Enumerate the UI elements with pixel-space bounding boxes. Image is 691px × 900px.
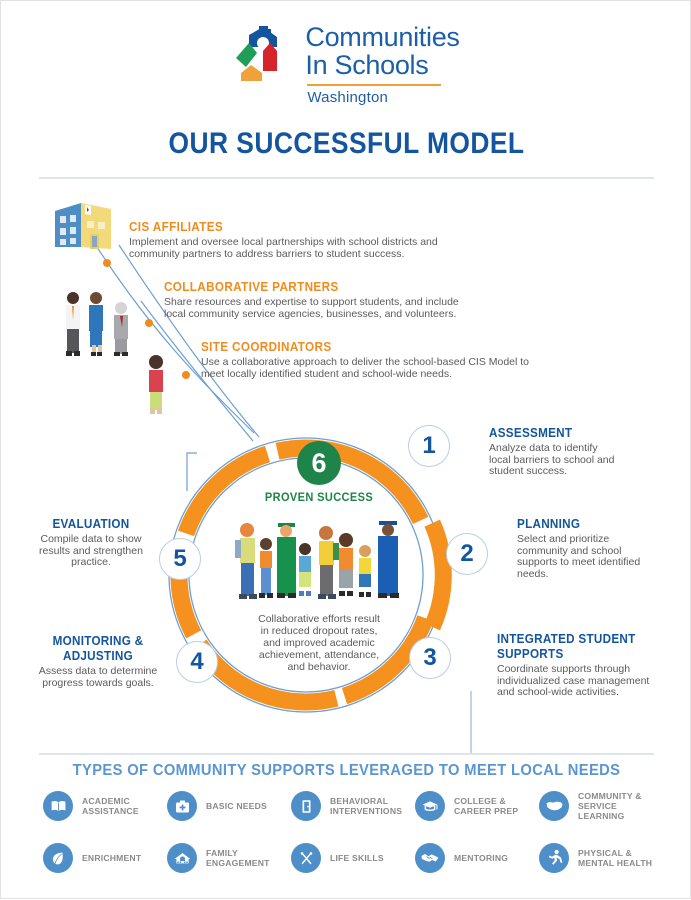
callout-site-coordinators: SITE COORDINATORS Use a collaborative ap… xyxy=(201,339,529,380)
support-label: BASIC NEEDS xyxy=(206,801,267,811)
step-badge-2: 2 xyxy=(446,533,488,575)
step-text-evaluation: EVALUATION Compile data to show results … xyxy=(13,516,169,569)
logo-divider xyxy=(307,84,441,86)
step-heading: EVALUATION xyxy=(21,516,161,531)
first-aid-kit-icon xyxy=(167,791,197,821)
step-badge-1: 1 xyxy=(408,425,450,467)
support-label: FAMILY ENGAGEMENT xyxy=(206,848,270,868)
callout-cis-affiliates: CIS AFFILIATES Implement and oversee loc… xyxy=(129,219,438,260)
leaf-icon xyxy=(43,843,73,873)
step-number: 5 xyxy=(173,545,186,573)
proven-success-label: PROVEN SUCCESS xyxy=(253,490,385,504)
door-icon xyxy=(291,791,321,821)
support-label: LIFE SKILLS xyxy=(330,853,384,863)
graduation-cap-icon xyxy=(415,791,445,821)
support-item-mentoring: MENTORING xyxy=(415,843,539,873)
infographic-page: Communities In Schools Washington OUR SU… xyxy=(0,0,691,899)
support-label: PHYSICAL & MENTAL HEALTH xyxy=(578,848,652,868)
supports-section-title: TYPES OF COMMUNITY SUPPORTS LEVERAGED TO… xyxy=(29,762,665,780)
step-text-assessment: ASSESSMENT Analyze data to identify loca… xyxy=(489,425,679,478)
callout-body: Use a collaborative approach to deliver … xyxy=(201,357,529,380)
step-number: 1 xyxy=(422,432,435,460)
proven-success-badge: 6 xyxy=(297,441,341,485)
step-heading: ASSESSMENT xyxy=(489,425,660,440)
home-icon xyxy=(167,843,197,873)
step-body: Compile data to show results and strengt… xyxy=(13,534,169,569)
callout-body: Share resources and expertise to support… xyxy=(164,297,459,320)
support-item-college-career-prep: COLLEGE & CAREER PREP xyxy=(415,791,539,821)
proven-success-number: 6 xyxy=(311,448,326,479)
support-item-physical-mental-health: PHYSICAL & MENTAL HEALTH xyxy=(539,843,663,873)
logo-line-1: Communities xyxy=(305,23,459,51)
students-group-icon xyxy=(233,517,405,609)
callout-collaborative-partners: COLLABORATIVE PARTNERS Share resources a… xyxy=(164,279,459,320)
step-text-monitoring-adjusting: MONITORING & ADJUSTING Assess data to de… xyxy=(9,633,187,689)
support-label: MENTORING xyxy=(454,853,508,863)
step-body: Coordinate supports through individualiz… xyxy=(497,664,689,699)
handshake-icon xyxy=(415,843,445,873)
support-item-community-service-learning: COMMUNITY & SERVICE LEARNING xyxy=(539,791,663,821)
support-label: ACADEMIC ASSISTANCE xyxy=(82,796,139,816)
step-text-integrated-student-supports: INTEGRATED STUDENT SUPPORTS Coordinate s… xyxy=(497,631,689,699)
step-body: Assess data to determine progress toward… xyxy=(9,666,187,689)
support-item-basic-needs: BASIC NEEDS xyxy=(167,791,291,821)
logo-subtitle: Washington xyxy=(307,89,459,106)
three-adults-icon xyxy=(59,289,143,362)
coordinator-person-icon xyxy=(141,353,171,420)
support-item-behavioral-interventions: BEHAVIORAL INTERVENTIONS xyxy=(291,791,415,821)
support-item-family-engagement: FAMILY ENGAGEMENT xyxy=(167,843,291,873)
support-item-academic-assistance: ACADEMIC ASSISTANCE xyxy=(43,791,167,821)
open-book-icon xyxy=(43,791,73,821)
callout-heading: COLLABORATIVE PARTNERS xyxy=(164,279,429,294)
support-label: ENRICHMENT xyxy=(82,853,141,863)
callout-heading: SITE COORDINATORS xyxy=(201,339,496,354)
step-number: 2 xyxy=(460,540,473,568)
step-text-planning: PLANNING Select and prioritize community… xyxy=(517,516,687,580)
cis-house-logo-icon xyxy=(233,23,295,95)
support-label: COLLEGE & CAREER PREP xyxy=(454,796,518,816)
step-heading: INTEGRATED STUDENT SUPPORTS xyxy=(497,631,670,661)
brand-logo: Communities In Schools Washington xyxy=(1,23,691,106)
proven-success-caption: Collaborative efforts result in reduced … xyxy=(237,613,401,673)
step-heading: PLANNING xyxy=(517,516,670,531)
support-label: COMMUNITY & SERVICE LEARNING xyxy=(578,791,663,821)
page-title: OUR SUCCESSFUL MODEL xyxy=(42,127,650,161)
school-building-icon xyxy=(51,197,117,258)
usa-map-icon xyxy=(539,791,569,821)
logo-line-2: In Schools xyxy=(305,51,459,79)
step-badge-3: 3 xyxy=(409,637,451,679)
callout-heading: CIS AFFILIATES xyxy=(129,219,407,234)
fork-knife-icon xyxy=(291,843,321,873)
callout-body: Implement and oversee local partnerships… xyxy=(129,237,438,260)
step-number: 3 xyxy=(423,644,436,672)
running-person-icon xyxy=(539,843,569,873)
divider-top xyxy=(39,177,654,179)
support-item-life-skills: LIFE SKILLS xyxy=(291,843,415,873)
support-item-enrichment: ENRICHMENT xyxy=(43,843,167,873)
support-label: BEHAVIORAL INTERVENTIONS xyxy=(330,796,402,816)
step-heading: MONITORING & ADJUSTING xyxy=(18,633,178,663)
step-body: Select and prioritize community and scho… xyxy=(517,534,687,580)
supports-grid: ACADEMIC ASSISTANCE BASIC NEEDS BEHAVIOR… xyxy=(43,791,663,873)
step-number: 4 xyxy=(190,648,203,676)
divider-bottom xyxy=(39,753,654,755)
step-body: Analyze data to identify local barriers … xyxy=(489,443,679,478)
